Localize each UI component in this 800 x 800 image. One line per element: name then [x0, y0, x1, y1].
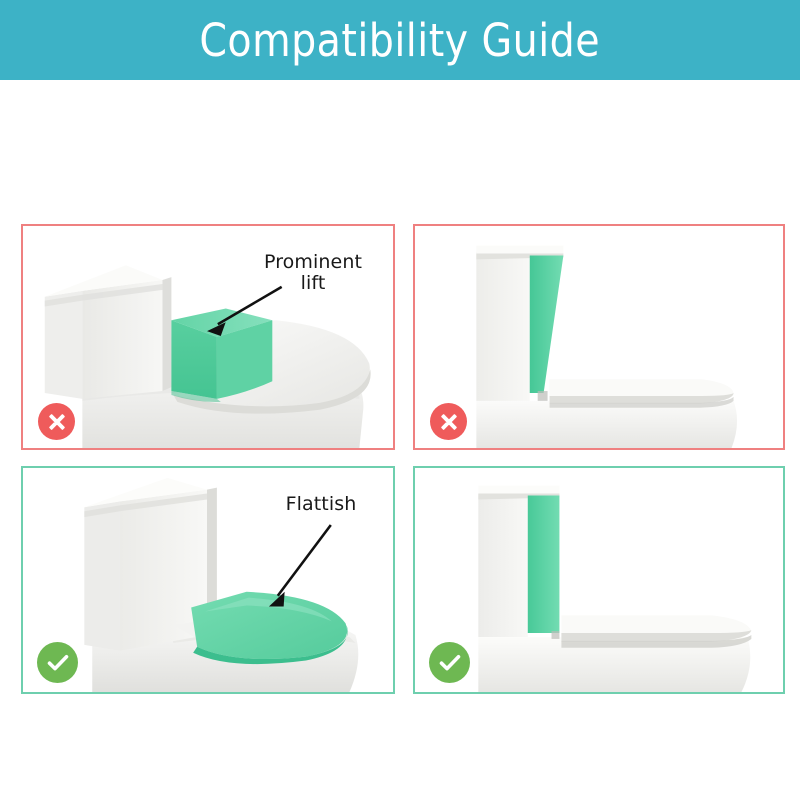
check-circle-icon — [45, 650, 71, 676]
status-badge-good — [429, 642, 470, 683]
x-circle-icon — [437, 410, 461, 434]
page-title: Compatibility Guide — [200, 18, 601, 63]
panel-top-right[interactable] — [413, 224, 785, 450]
panel-bottom-left[interactable]: Flattish — [21, 466, 395, 694]
panel-top-left[interactable]: Prominent lift — [21, 224, 395, 450]
side-profile-sloped-lift-illustration — [415, 226, 783, 448]
callout-prominent-lift: Prominent lift — [251, 252, 375, 295]
compatibility-guide-page: Compatibility Guide — [0, 0, 800, 800]
side-profile-flat-illustration — [415, 468, 783, 692]
check-circle-icon — [437, 650, 463, 676]
x-circle-icon — [45, 410, 69, 434]
status-badge-good — [37, 642, 78, 683]
panel-bottom-right[interactable] — [413, 466, 785, 694]
callout-flattish: Flattish — [261, 494, 381, 515]
status-badge-bad — [430, 403, 467, 440]
header-banner: Compatibility Guide — [0, 0, 800, 80]
panel-grid: Prominent lift — [21, 224, 785, 694]
status-badge-bad — [38, 403, 75, 440]
